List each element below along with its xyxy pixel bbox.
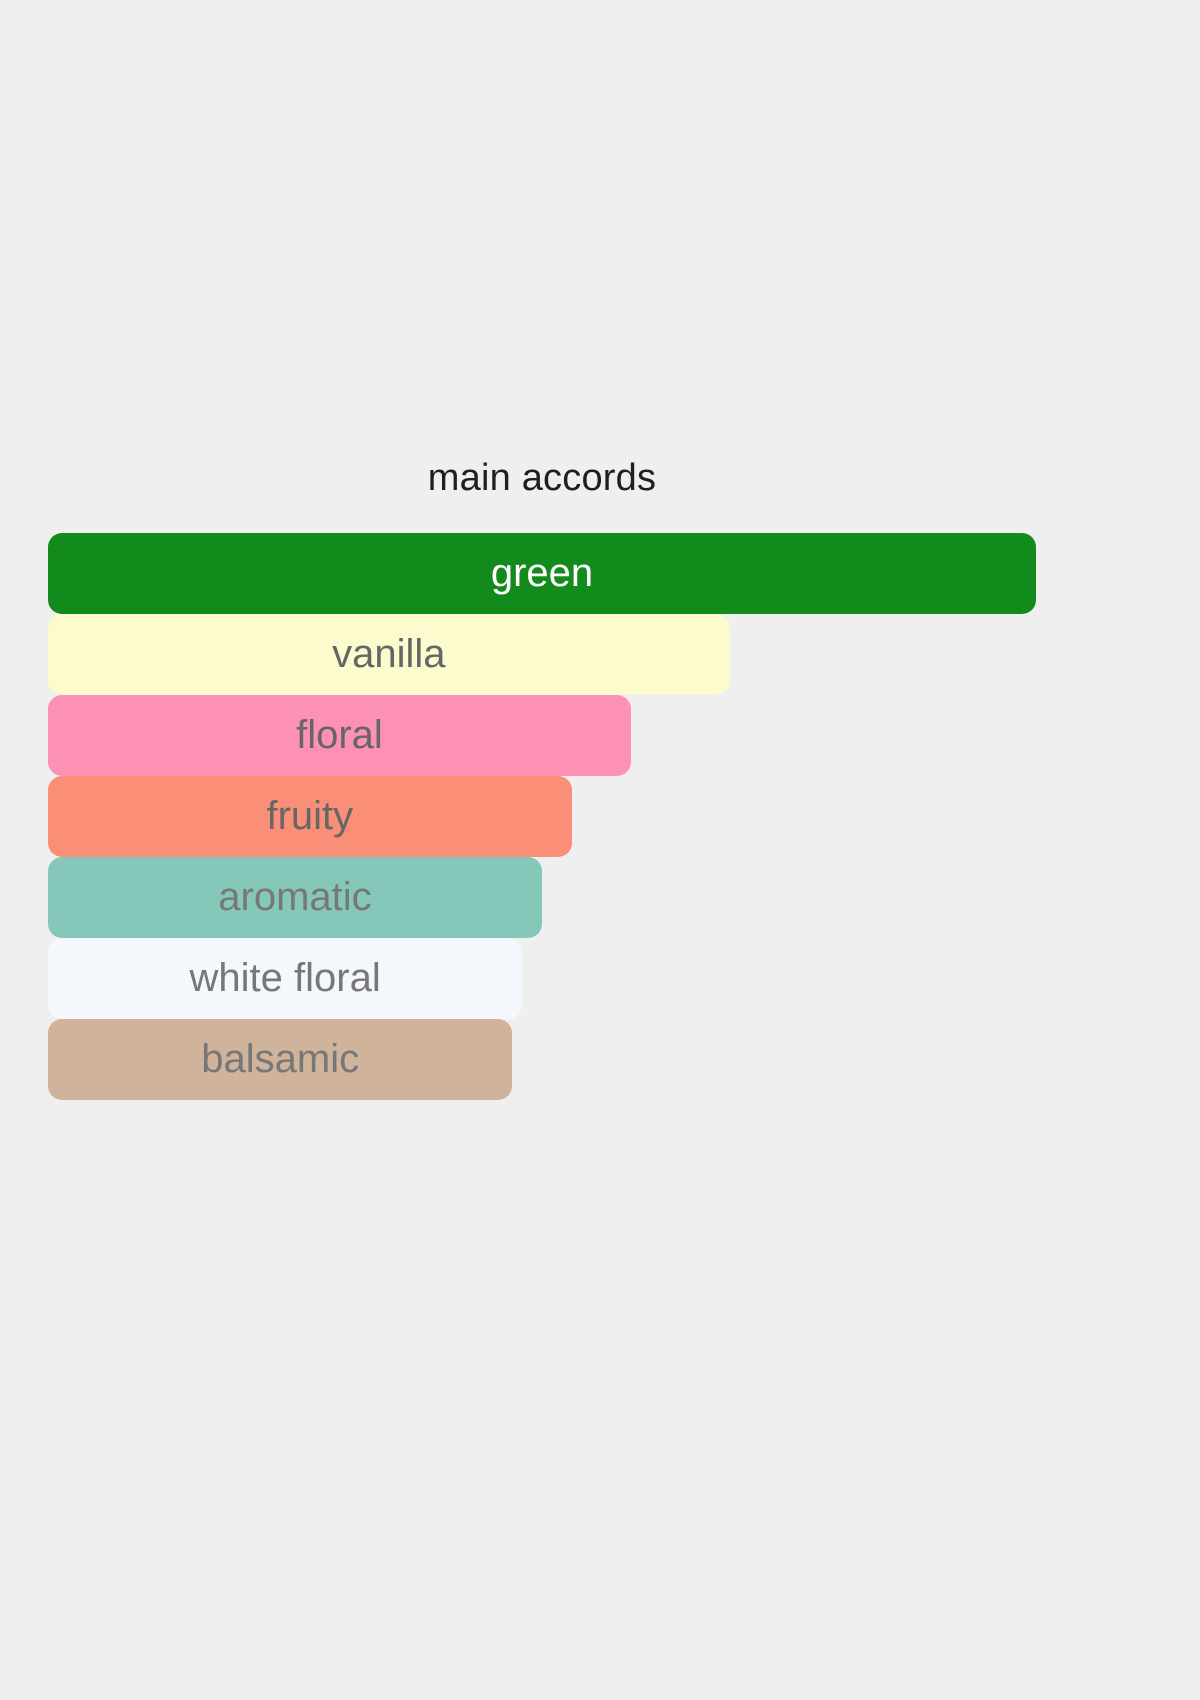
bar-fill-fruity — [48, 776, 572, 857]
bar-fill-vanilla — [48, 614, 730, 695]
main-accords-chart: main accords greenvanillafloralfruityaro… — [0, 0, 1200, 1700]
bar-row[interactable]: balsamic — [48, 1019, 1148, 1100]
bar-fill-green — [48, 533, 1036, 614]
bar-row[interactable]: vanilla — [48, 614, 1148, 695]
bar-row[interactable]: aromatic — [48, 857, 1148, 938]
bar-fill-balsamic — [48, 1019, 512, 1100]
bar-row[interactable]: floral — [48, 695, 1148, 776]
bar-fill-aromatic — [48, 857, 542, 938]
bar-row[interactable]: white floral — [48, 938, 1148, 1019]
bar-list: greenvanillafloralfruityaromaticwhite fl… — [48, 533, 1148, 1100]
bar-fill-white-floral — [48, 938, 522, 1019]
bar-row[interactable]: green — [48, 533, 1148, 614]
page-title: main accords — [48, 453, 1036, 503]
bar-row[interactable]: fruity — [48, 776, 1148, 857]
bar-fill-floral — [48, 695, 631, 776]
